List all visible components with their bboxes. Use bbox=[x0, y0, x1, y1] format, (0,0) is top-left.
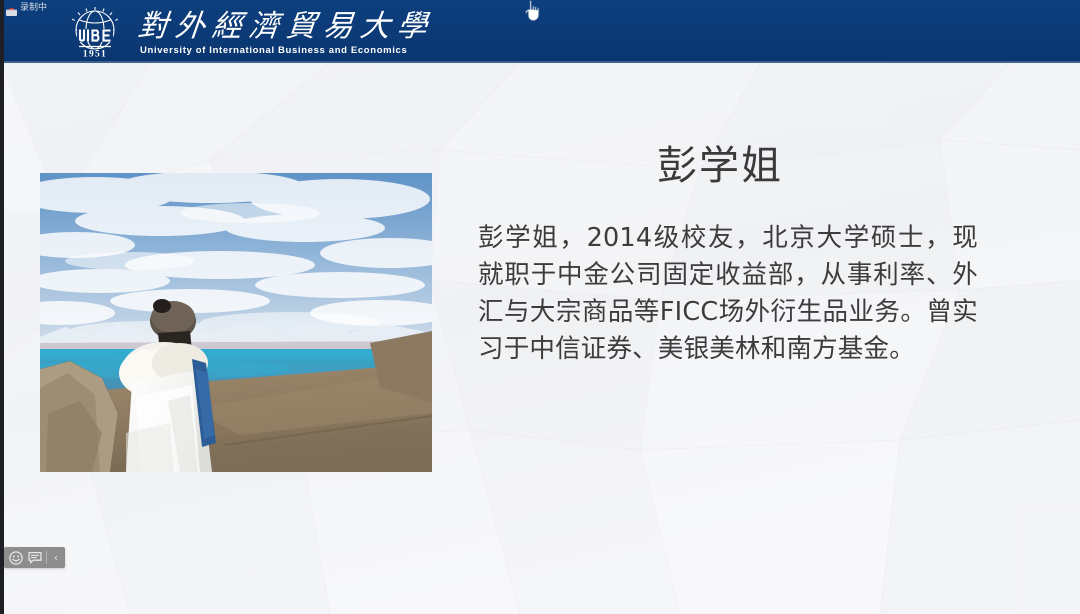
emoji-reaction-icon[interactable] bbox=[6, 548, 25, 567]
university-name-cn: 對外經濟貿易大學 bbox=[136, 10, 436, 44]
chat-icon[interactable] bbox=[25, 548, 44, 567]
text-column: 彭学姐 彭学姐，2014级校友，北京大学硕士，现就职于中金公司固定收益部，从事利… bbox=[478, 140, 998, 368]
university-header-band: 1951 對外經濟貿易大學 University of Internationa… bbox=[0, 0, 1080, 63]
uibe-globe-emblem: 1951 bbox=[66, 4, 124, 60]
page-title: 彭学姐 bbox=[490, 140, 950, 192]
university-logo: 1951 對外經濟貿易大學 University of Internationa… bbox=[66, 4, 434, 60]
recording-badge: 录制中 bbox=[6, 1, 47, 14]
app-frame-left-edge bbox=[0, 0, 4, 614]
svg-text:1951: 1951 bbox=[83, 50, 107, 60]
portrait-photo bbox=[40, 173, 432, 472]
university-wordmark: 對外經濟貿易大學 University of International Bus… bbox=[138, 4, 434, 60]
collapse-toolbar-chevron-icon[interactable]: ‹ bbox=[49, 548, 63, 567]
record-icon bbox=[6, 3, 17, 12]
recording-label: 录制中 bbox=[20, 3, 47, 13]
meeting-reaction-toolbar[interactable]: ‹ bbox=[4, 547, 65, 568]
university-name-en: University of International Business and… bbox=[140, 45, 434, 57]
slide-content: 彭学姐 彭学姐，2014级校友，北京大学硕士，现就职于中金公司固定收益部，从事利… bbox=[0, 0, 1080, 614]
toolbar-divider bbox=[46, 551, 47, 564]
screen: 彭学姐 彭学姐，2014级校友，北京大学硕士，现就职于中金公司固定收益部，从事利… bbox=[0, 0, 1080, 614]
slide-body-text: 彭学姐，2014级校友，北京大学硕士，现就职于中金公司固定收益部，从事利率、外汇… bbox=[478, 220, 978, 368]
